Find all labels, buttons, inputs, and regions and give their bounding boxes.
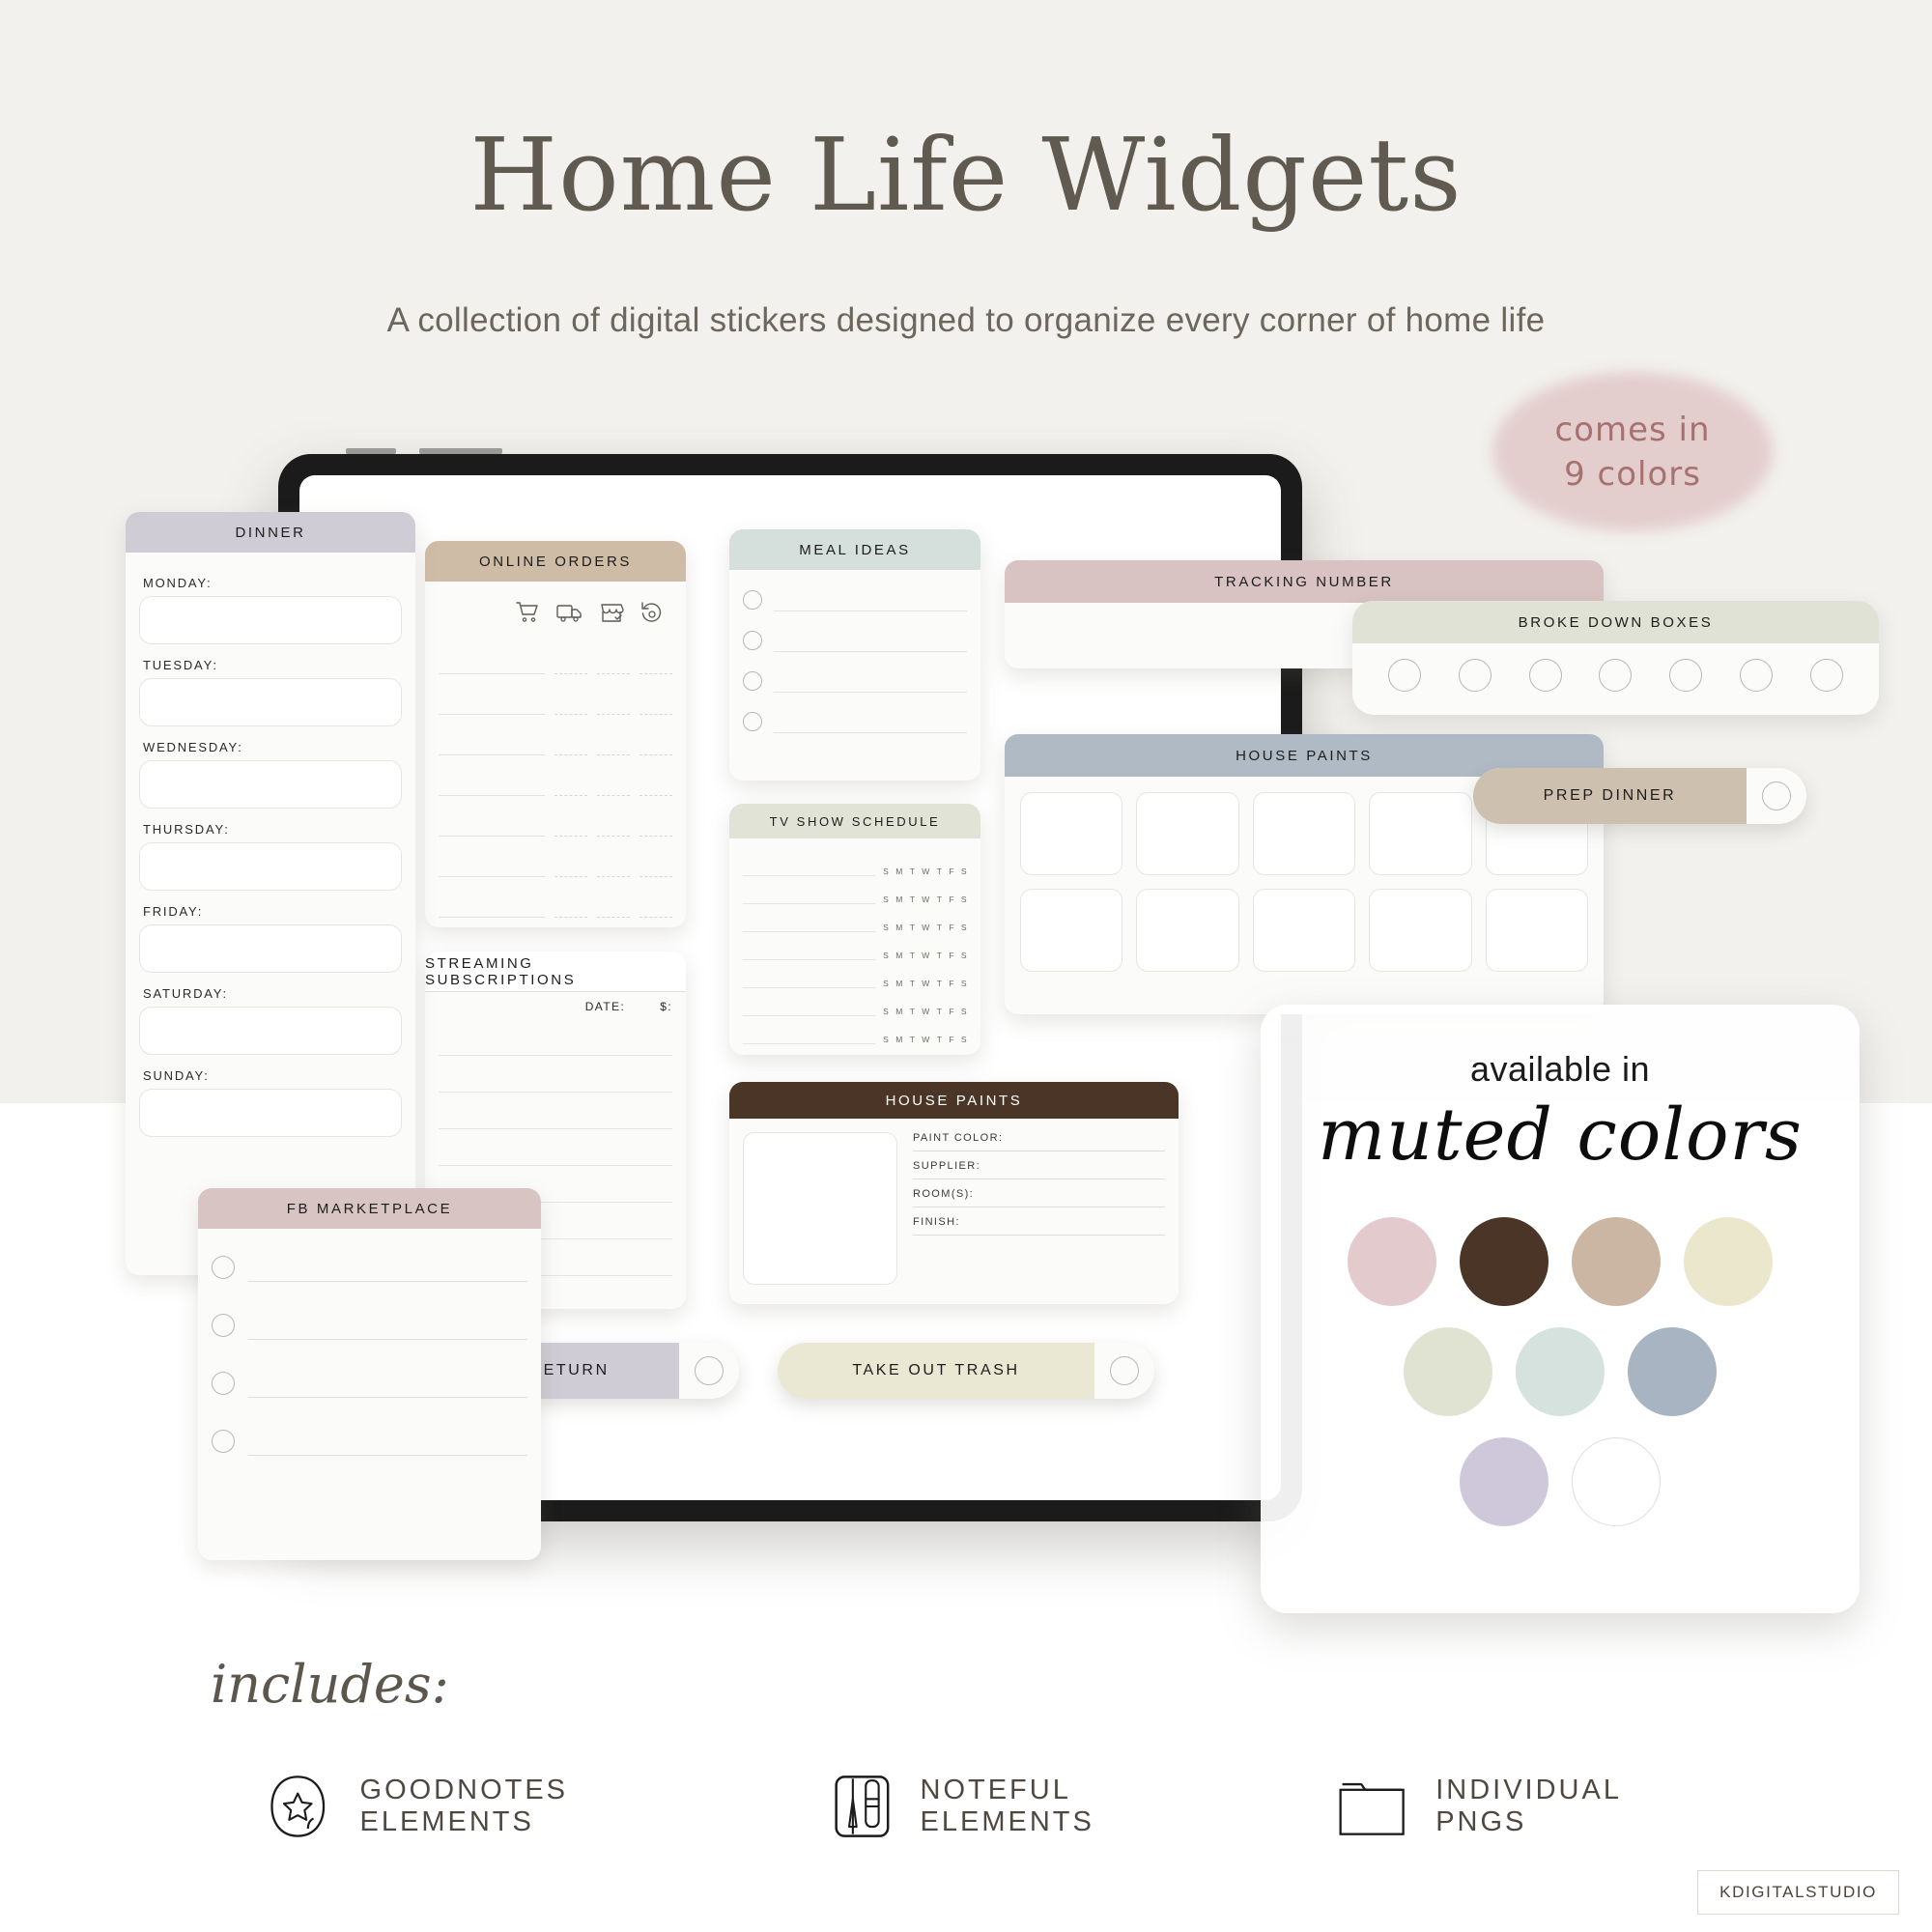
widget-online-orders[interactable]: ONLINE ORDERS <box>425 541 686 927</box>
dinner-day-input-3[interactable] <box>139 842 402 891</box>
field-supplier[interactable]: SUPPLIER: <box>913 1160 1165 1179</box>
day-letter[interactable]: W <box>922 979 929 988</box>
color-swatch <box>1460 1217 1548 1306</box>
day-letter[interactable]: T <box>910 1007 916 1016</box>
color-swatch <box>1404 1327 1492 1416</box>
widget-dinner[interactable]: DINNER MONDAY:TUESDAY:WEDNESDAY:THURSDAY… <box>126 512 415 1275</box>
color-swatch-row <box>1261 1437 1860 1526</box>
day-letter[interactable]: T <box>910 867 916 876</box>
list-item[interactable] <box>439 877 672 918</box>
day-letter[interactable]: T <box>910 1035 916 1044</box>
day-letter[interactable]: W <box>922 867 929 876</box>
dinner-day-input-0[interactable] <box>139 596 402 644</box>
widget-broke-down-boxes-title: BROKE DOWN BOXES <box>1352 601 1879 643</box>
muted-card-small-text: available in <box>1261 1049 1860 1090</box>
widget-house-paints-detail[interactable]: HOUSE PAINTS PAINT COLOR: SUPPLIER: ROOM… <box>729 1082 1179 1304</box>
checkbox-icon[interactable] <box>1110 1356 1139 1385</box>
table-row[interactable] <box>439 1056 672 1093</box>
includes-item-noteful-label: NOTEFUL ELEMENTS <box>921 1775 1240 1838</box>
tablet-volume-button <box>346 448 396 454</box>
day-letter[interactable]: T <box>937 923 943 932</box>
includes-item-goodnotes-label: GOODNOTES ELEMENTS <box>360 1775 736 1838</box>
tv-day-letters[interactable]: SMTWTFS <box>883 923 967 932</box>
paint-grid-cell[interactable] <box>1369 792 1471 875</box>
table-row[interactable]: SMTWTFS <box>743 988 967 1016</box>
day-letter[interactable]: M <box>895 895 902 904</box>
day-letter[interactable]: T <box>937 1035 943 1044</box>
list-item[interactable] <box>439 674 672 715</box>
checkbox-icon[interactable] <box>1388 659 1421 692</box>
checkbox-icon[interactable] <box>695 1356 724 1385</box>
color-swatch <box>1684 1217 1773 1306</box>
tv-schedule-rows[interactable]: SMTWTFSSMTWTFSSMTWTFSSMTWTFSSMTWTFSSMTWT… <box>729 838 980 1054</box>
color-swatch-row <box>1261 1327 1860 1416</box>
color-swatch <box>1572 1217 1661 1306</box>
day-letter[interactable]: S <box>883 1007 889 1016</box>
online-orders-rows[interactable] <box>439 634 672 918</box>
dinner-day-input-4[interactable] <box>139 924 402 973</box>
day-letter[interactable]: F <box>949 1035 954 1044</box>
storefront-icon <box>599 601 624 624</box>
day-letter[interactable]: S <box>883 979 889 988</box>
color-swatch <box>1348 1217 1436 1306</box>
list-item[interactable] <box>439 634 672 674</box>
dinner-day-list[interactable]: MONDAY:TUESDAY:WEDNESDAY:THURSDAY:FRIDAY… <box>126 553 415 1147</box>
list-item[interactable] <box>439 755 672 796</box>
sticker-prep-dinner-label: PREP DINNER <box>1473 768 1747 824</box>
dinner-day-input-1[interactable] <box>139 678 402 726</box>
tv-day-letters[interactable]: SMTWTFS <box>883 979 967 988</box>
dinner-day-label-6: SUNDAY: <box>143 1068 402 1083</box>
muted-colors-card: available in muted colors <box>1261 1005 1860 1613</box>
day-letter[interactable]: T <box>910 979 916 988</box>
checkbox-icon[interactable] <box>212 1256 235 1279</box>
paint-grid-cell[interactable] <box>1020 792 1122 875</box>
widget-streaming-title: STREAMING SUBSCRIPTIONS <box>425 952 686 992</box>
checkbox-icon[interactable] <box>1599 659 1632 692</box>
tv-day-letters[interactable]: SMTWTFS <box>883 951 967 960</box>
paint-grid-cell[interactable] <box>1253 889 1355 972</box>
day-letter[interactable]: T <box>937 895 943 904</box>
shopping-cart-icon <box>516 601 541 624</box>
paint-swatch-box[interactable] <box>743 1132 897 1285</box>
paint-grid-cell[interactable] <box>1369 889 1471 972</box>
day-letter[interactable]: S <box>961 895 967 904</box>
checkbox-icon[interactable] <box>1740 659 1773 692</box>
day-letter[interactable]: M <box>895 923 902 932</box>
return-arrow-icon <box>639 601 665 624</box>
day-letter[interactable]: M <box>895 951 902 960</box>
field-finish[interactable]: FINISH: <box>913 1216 1165 1236</box>
widget-fb-marketplace[interactable]: FB MARKETPLACE <box>198 1188 541 1560</box>
widget-tv-show-schedule[interactable]: TV SHOW SCHEDULE SMTWTFSSMTWTFSSMTWTFSSM… <box>729 804 980 1055</box>
day-letter[interactable]: S <box>961 923 967 932</box>
widget-broke-down-boxes[interactable]: BROKE DOWN BOXES <box>1352 601 1879 715</box>
dinner-day-input-5[interactable] <box>139 1007 402 1055</box>
list-item[interactable] <box>212 1412 527 1470</box>
tv-day-letters[interactable]: SMTWTFS <box>883 1007 967 1016</box>
day-letter[interactable]: S <box>961 1007 967 1016</box>
comes-in-colors-bubble: comes in 9 colors <box>1492 372 1773 531</box>
color-swatch <box>1572 1437 1661 1526</box>
widget-dinner-title: DINNER <box>126 512 415 553</box>
includes-item-pngs-label: INDIVIDUAL PNGS <box>1435 1775 1710 1838</box>
widget-meal-ideas[interactable]: MEAL IDEAS <box>729 529 980 781</box>
list-item[interactable] <box>439 837 672 877</box>
page-subtitle: A collection of digital stickers designe… <box>0 301 1932 340</box>
tv-day-letters[interactable]: SMTWTFS <box>883 1035 967 1044</box>
tablet-power-button <box>419 448 502 454</box>
day-letter[interactable]: M <box>895 1035 902 1044</box>
checkbox-icon[interactable] <box>212 1372 235 1395</box>
field-rooms[interactable]: ROOM(S): <box>913 1188 1165 1207</box>
checkbox-icon[interactable] <box>1529 659 1562 692</box>
day-letter[interactable]: F <box>949 867 954 876</box>
checkbox-icon[interactable] <box>743 712 762 731</box>
dinner-day-input-6[interactable] <box>139 1089 402 1137</box>
list-item[interactable] <box>439 796 672 837</box>
day-letter[interactable]: F <box>949 895 954 904</box>
brand-footer: KDIGITALSTUDIO <box>1697 1870 1899 1915</box>
day-letter[interactable]: T <box>937 979 943 988</box>
day-letter[interactable]: F <box>949 951 954 960</box>
checkbox-icon[interactable] <box>1810 659 1843 692</box>
includes-label: includes: <box>211 1654 449 1715</box>
dinner-day-label-4: FRIDAY: <box>143 904 402 919</box>
bubble-line-2: 9 colors <box>1564 455 1701 494</box>
includes-item-goodnotes: GOODNOTES ELEMENTS <box>261 1768 736 1845</box>
goodnotes-sticker-icon <box>261 1768 335 1845</box>
color-swatch <box>1516 1327 1605 1416</box>
table-row[interactable] <box>439 1019 672 1056</box>
includes-items: GOODNOTES ELEMENTS NOTEFUL ELEMENTS INDI… <box>261 1768 1710 1845</box>
delivery-truck-icon <box>556 601 583 624</box>
list-item[interactable] <box>743 701 967 742</box>
color-swatch <box>1628 1327 1717 1416</box>
day-letter[interactable]: M <box>895 979 902 988</box>
checkbox-icon[interactable] <box>212 1314 235 1337</box>
paint-grid-cell[interactable] <box>1020 889 1122 972</box>
col-header-date: DATE: <box>585 1000 625 1013</box>
day-letter[interactable]: S <box>961 979 967 988</box>
sticker-trash-knob[interactable] <box>1094 1356 1154 1385</box>
widget-house-paints-detail-title: HOUSE PAINTS <box>729 1082 1179 1119</box>
paint-grid-cell[interactable] <box>1136 792 1238 875</box>
dinner-day-label-2: WEDNESDAY: <box>143 740 402 754</box>
widget-tracking-number-title: TRACKING NUMBER <box>1005 560 1604 603</box>
page-title: Home Life Widgets <box>0 116 1932 234</box>
boxes-checkbox-row[interactable] <box>1352 643 1879 707</box>
dinner-day-label-3: THURSDAY: <box>143 822 402 837</box>
checkbox-icon[interactable] <box>743 631 762 650</box>
field-paint-color[interactable]: PAINT COLOR: <box>913 1132 1165 1151</box>
day-letter[interactable]: W <box>922 1035 929 1044</box>
widget-online-orders-title: ONLINE ORDERS <box>425 541 686 582</box>
color-swatch-rows <box>1261 1217 1860 1526</box>
table-row[interactable]: SMTWTFS <box>743 960 967 988</box>
list-item[interactable] <box>212 1354 527 1412</box>
day-letter[interactable]: S <box>883 923 889 932</box>
day-letter[interactable]: M <box>895 867 902 876</box>
paint-grid-cell[interactable] <box>1253 792 1355 875</box>
list-item[interactable] <box>743 620 967 661</box>
table-row[interactable]: SMTWTFS <box>743 1016 967 1044</box>
sticker-take-out-trash-button[interactable]: TAKE OUT TRASH <box>778 1343 1154 1399</box>
color-swatch <box>1460 1437 1548 1526</box>
day-letter[interactable]: F <box>949 979 954 988</box>
checkbox-icon[interactable] <box>1762 781 1791 810</box>
widget-meal-ideas-title: MEAL IDEAS <box>729 529 980 570</box>
table-row[interactable]: SMTWTFS <box>743 904 967 932</box>
day-letter[interactable]: S <box>883 895 889 904</box>
day-letter[interactable]: S <box>883 951 889 960</box>
tv-day-letters[interactable]: SMTWTFS <box>883 895 967 904</box>
includes-item-noteful: NOTEFUL ELEMENTS <box>829 1768 1240 1845</box>
day-letter[interactable]: S <box>883 867 889 876</box>
day-letter[interactable]: F <box>949 1007 954 1016</box>
folder-icon <box>1333 1770 1410 1843</box>
dinner-day-input-2[interactable] <box>139 760 402 809</box>
day-letter[interactable]: S <box>961 1035 967 1044</box>
checkbox-icon[interactable] <box>1669 659 1702 692</box>
table-row[interactable]: SMTWTFS <box>743 876 967 904</box>
day-letter[interactable]: T <box>910 895 916 904</box>
list-item[interactable] <box>212 1238 527 1296</box>
noteful-pen-icon <box>829 1768 895 1845</box>
day-letter[interactable]: M <box>895 1007 902 1016</box>
list-item[interactable] <box>212 1296 527 1354</box>
checkbox-icon[interactable] <box>743 671 762 691</box>
day-letter[interactable]: W <box>922 951 929 960</box>
list-item[interactable] <box>743 661 967 701</box>
checkbox-icon[interactable] <box>212 1430 235 1453</box>
day-letter[interactable]: S <box>961 951 967 960</box>
day-letter[interactable]: T <box>910 951 916 960</box>
table-row[interactable]: SMTWTFS <box>743 932 967 960</box>
day-letter[interactable]: W <box>922 895 929 904</box>
bubble-line-1: comes in <box>1554 411 1710 449</box>
checkbox-icon[interactable] <box>1459 659 1492 692</box>
sticker-return-knob[interactable] <box>679 1356 739 1385</box>
dinner-day-label-1: TUESDAY: <box>143 658 402 672</box>
muted-card-big-text: muted colors <box>1261 1094 1860 1177</box>
day-letter[interactable]: S <box>961 867 967 876</box>
day-letter[interactable]: T <box>910 923 916 932</box>
day-letter[interactable]: T <box>937 951 943 960</box>
widget-tv-schedule-title: TV SHOW SCHEDULE <box>729 804 980 838</box>
day-letter[interactable]: S <box>883 1035 889 1044</box>
day-letter[interactable]: W <box>922 923 929 932</box>
day-letter[interactable]: T <box>937 867 943 876</box>
sticker-prep-dinner-button[interactable]: PREP DINNER <box>1473 768 1806 824</box>
day-letter[interactable]: F <box>949 923 954 932</box>
dinner-day-label-5: SATURDAY: <box>143 986 402 1001</box>
list-item[interactable] <box>439 715 672 755</box>
tv-day-letters[interactable]: SMTWTFS <box>883 867 967 876</box>
table-row[interactable] <box>439 1093 672 1129</box>
day-letter[interactable]: W <box>922 1007 929 1016</box>
sticker-prep-knob[interactable] <box>1747 781 1806 810</box>
widget-fb-marketplace-title: FB MARKETPLACE <box>198 1188 541 1229</box>
table-row[interactable] <box>439 1129 672 1166</box>
paint-grid-cell[interactable] <box>1136 889 1238 972</box>
col-header-price: $: <box>660 1000 672 1013</box>
checkbox-icon[interactable] <box>743 590 762 610</box>
table-row[interactable]: SMTWTFS <box>743 848 967 876</box>
includes-item-pngs: INDIVIDUAL PNGS <box>1333 1770 1710 1843</box>
paint-grid-cell[interactable] <box>1486 889 1588 972</box>
day-letter[interactable]: T <box>937 1007 943 1016</box>
list-item[interactable] <box>743 580 967 620</box>
dinner-day-label-0: MONDAY: <box>143 576 402 590</box>
sticker-take-out-trash-label: TAKE OUT TRASH <box>778 1343 1094 1399</box>
color-swatch-row <box>1261 1217 1860 1306</box>
